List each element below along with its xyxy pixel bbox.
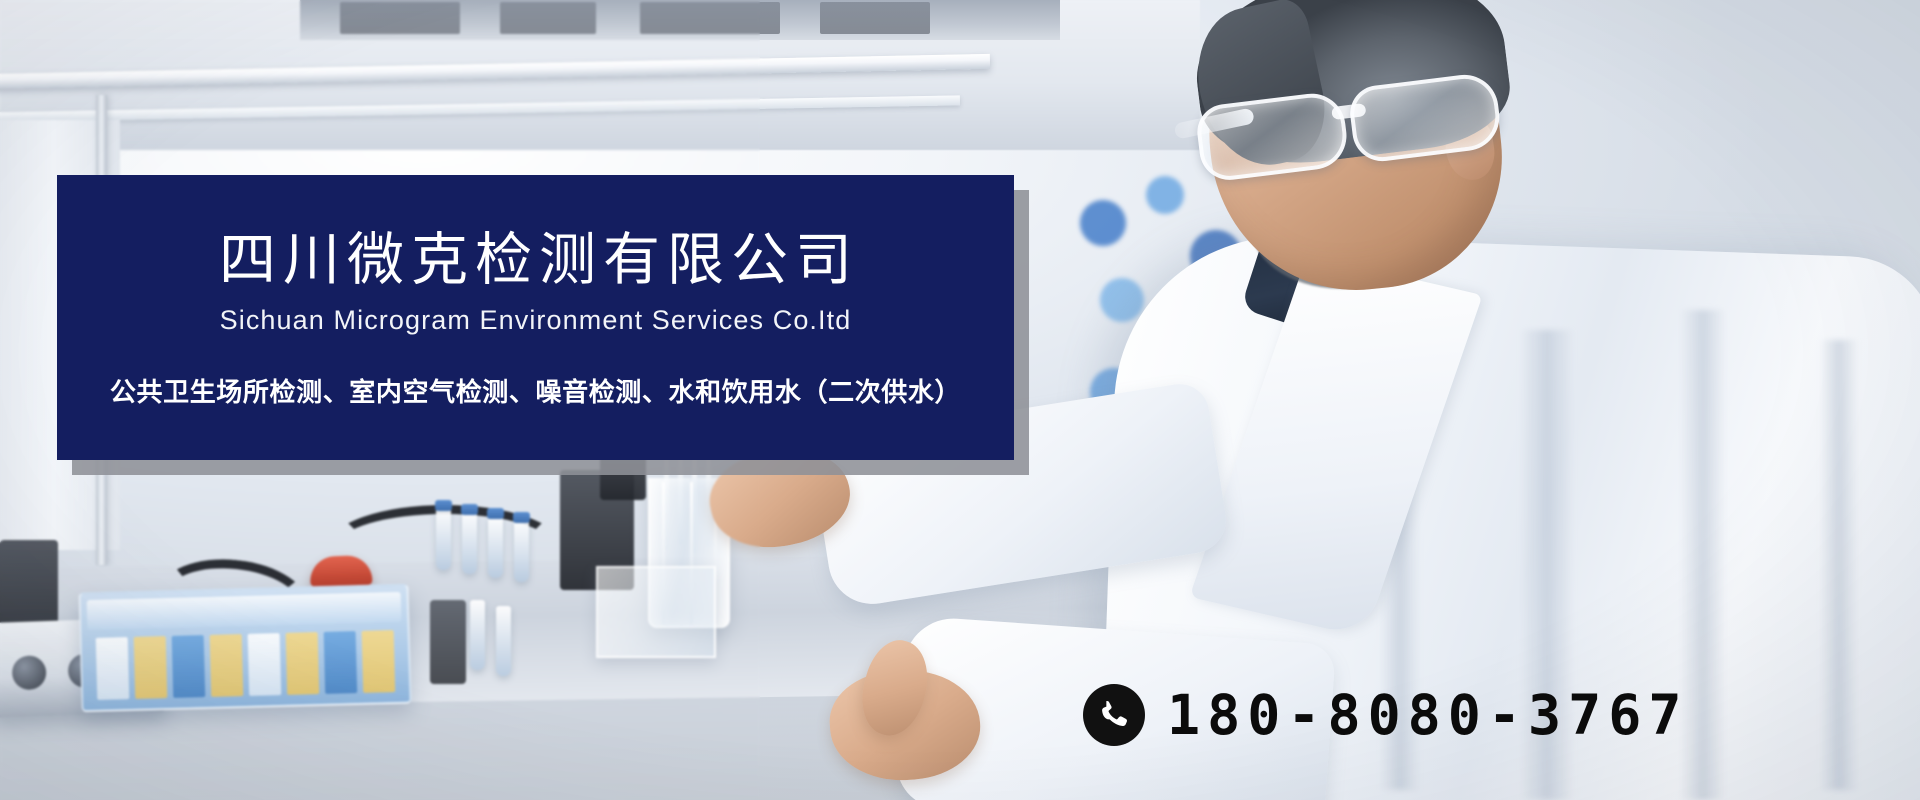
company-info-panel: 四川微克检测有限公司 Sichuan Microgram Environment… <box>57 175 1014 460</box>
company-name-english: Sichuan Microgram Environment Services C… <box>220 305 852 336</box>
phone-number[interactable]: 180-8080-3767 <box>1167 688 1688 743</box>
phone-icon <box>1083 684 1145 746</box>
promotional-banner: 四川微克检测有限公司 Sichuan Microgram Environment… <box>0 0 1920 800</box>
services-list-chinese: 公共卫生场所检测、室内空气检测、噪音检测、水和饮用水（二次供水） <box>110 372 961 409</box>
company-name-chinese: 四川微克检测有限公司 <box>212 230 859 292</box>
contact-phone-block[interactable]: 180-8080-3767 <box>1083 684 1688 746</box>
